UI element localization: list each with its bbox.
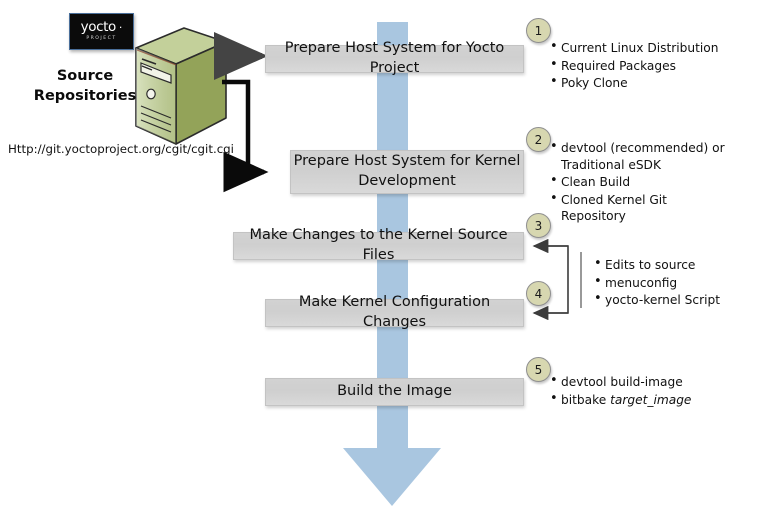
step-badge-4-number: 4 [535, 287, 543, 301]
step-badge-4: 4 [526, 281, 551, 306]
step-5-bullet-list: devtool build-image bitbake target_image [548, 374, 748, 409]
process-box-step-1-label: Prepare Host System for Yocto Project [266, 39, 523, 78]
list-item: Edits to source [605, 257, 757, 274]
list-item: devtool build-image [561, 374, 748, 391]
bitbake-target-arg: target_image [610, 393, 691, 407]
step-badge-1-number: 1 [535, 24, 543, 38]
steps-3-4-bullet-list: Edits to source menuconfig yocto-kernel … [592, 257, 757, 310]
process-box-step-3[interactable]: Make Changes to the Kernel Source Files [233, 232, 524, 260]
process-box-step-1[interactable]: Prepare Host System for Yocto Project [265, 45, 524, 73]
list-item: Cloned Kernel Git Repository [561, 192, 733, 225]
process-box-step-5[interactable]: Build the Image [265, 378, 524, 406]
step-badge-3: 3 [526, 213, 551, 238]
logo-dot-icon: · [119, 21, 123, 34]
source-label-line1: Source [30, 66, 140, 86]
process-box-step-2-label: Prepare Host System for Kernel Developme… [291, 152, 523, 191]
step-badge-5-number: 5 [535, 363, 543, 377]
logo-subtitle: PROJECT [86, 36, 116, 42]
source-repositories-label: Source Repositories [30, 66, 140, 106]
process-box-step-3-label: Make Changes to the Kernel Source Files [234, 226, 523, 265]
workflow-down-arrow-icon [343, 448, 441, 506]
list-item: Required Packages [561, 58, 753, 75]
list-item: Current Linux Distribution [561, 40, 753, 57]
list-item: Clean Build [561, 174, 733, 191]
process-box-step-4[interactable]: Make Kernel Configuration Changes [265, 299, 524, 327]
step-badge-3-number: 3 [535, 219, 543, 233]
step-2-bullet-list: devtool (recommended) or Traditional eSD… [548, 140, 733, 226]
yocto-project-logo: yocto · PROJECT [69, 13, 134, 50]
source-label-line2: Repositories [30, 86, 140, 106]
list-item: Poky Clone [561, 75, 753, 92]
step-1-bullet-list: Current Linux Distribution Required Pack… [548, 40, 753, 93]
server-tower-icon [130, 26, 230, 152]
list-item: bitbake target_image [561, 392, 748, 409]
list-item: devtool (recommended) or Traditional eSD… [561, 140, 733, 173]
diagram-canvas: yocto · PROJECT Source Repositories Http… [0, 0, 769, 517]
process-box-step-2[interactable]: Prepare Host System for Kernel Developme… [290, 150, 524, 194]
bitbake-command: bitbake [561, 393, 610, 407]
list-item: menuconfig [605, 275, 757, 292]
process-box-step-4-label: Make Kernel Configuration Changes [266, 293, 523, 332]
logo-wordmark: yocto [81, 21, 116, 34]
list-item: yocto-kernel Script [605, 292, 757, 309]
step-badge-2-number: 2 [535, 133, 543, 147]
process-box-step-5-label: Build the Image [337, 382, 452, 402]
